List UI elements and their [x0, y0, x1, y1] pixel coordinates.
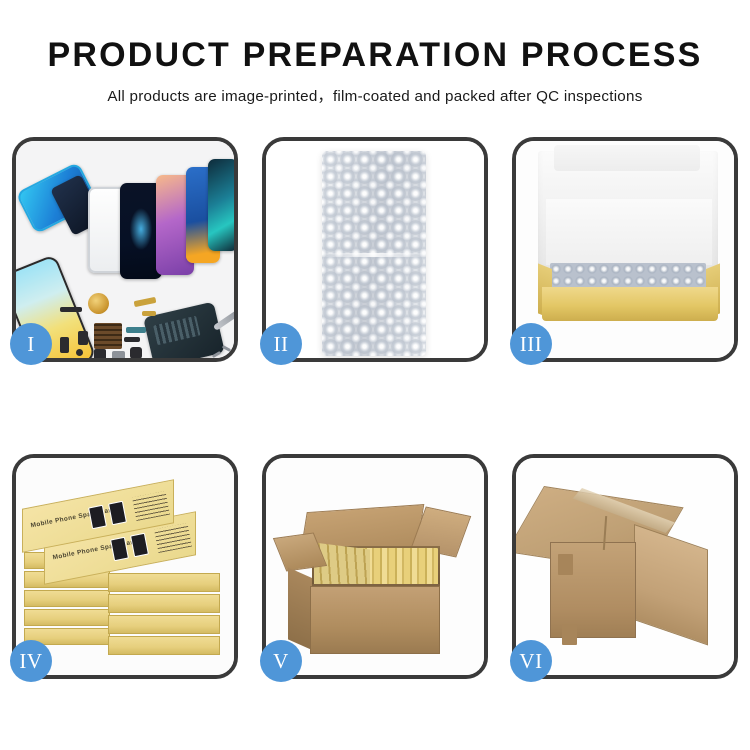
sealed-carton-right-panel-icon [634, 524, 708, 645]
step-badge-5: V [260, 640, 302, 682]
step-badge-1: I [10, 323, 52, 365]
carton-left-side-icon [288, 567, 312, 650]
box-lid-flap-icon [554, 145, 700, 171]
page-subtitle: All products are image-printed，film-coat… [0, 84, 750, 106]
part-camera-module-icon [78, 331, 88, 345]
box-front-panel-icon [542, 287, 718, 321]
teal-swirl-phone-icon [208, 159, 234, 251]
part-flex-cable-b-icon [142, 311, 156, 316]
panel-1-image [16, 141, 234, 358]
open-carton-scene [266, 458, 484, 675]
part-speaker-strip-icon [60, 307, 82, 312]
panel-2-image [266, 141, 484, 358]
process-step-panel-5[interactable]: V [262, 454, 488, 679]
part-button-icon [76, 349, 83, 356]
foam-sheet-icon [546, 199, 712, 265]
part-connector-a-icon [126, 327, 146, 333]
stacked-box-r5 [108, 636, 220, 655]
copper-coil-icon [88, 293, 109, 314]
process-step-panel-3[interactable]: III [512, 137, 738, 362]
stacked-boxes-scene: Mobile Phone Spare Parts Mobile Phone Sp… [16, 458, 234, 675]
carton-tape-tab-lower [562, 624, 577, 645]
part-flex-cable-a-icon [134, 297, 157, 307]
process-step-grid: I II III [12, 137, 738, 679]
part-bracket-icon [112, 351, 125, 358]
panel-6-image [516, 458, 734, 675]
phone-parts-scene [16, 141, 234, 358]
bubble-wrap-scene [266, 141, 484, 358]
stacked-box-r2 [108, 573, 220, 592]
panel-5-image [266, 458, 484, 675]
part-sim-tray-icon [60, 337, 69, 353]
step-badge-4: IV [10, 640, 52, 682]
inner-box-scene [516, 141, 734, 358]
page-title: PRODUCT PREPARATION PROCESS [0, 36, 750, 75]
page-header: PRODUCT PREPARATION PROCESS All products… [0, 0, 750, 106]
stacked-box-r3 [108, 594, 220, 613]
chip-board-icon [94, 323, 122, 349]
part-connector-b-icon [124, 337, 140, 342]
disassembled-phone-back-icon [143, 302, 225, 358]
carton-tape-tab-upper [558, 554, 573, 575]
part-battery-icon [94, 349, 106, 358]
process-step-panel-4[interactable]: Mobile Phone Spare Parts Mobile Phone Sp… [12, 454, 238, 679]
panel-4-image: Mobile Phone Spare Parts Mobile Phone Sp… [16, 458, 234, 675]
stacked-box-l4 [24, 609, 110, 626]
panel-3-image [516, 141, 734, 358]
stacked-box-r4 [108, 615, 220, 634]
carton-front-panel-icon [310, 586, 440, 654]
step-badge-6: VI [510, 640, 552, 682]
process-step-panel-6[interactable]: VI [512, 454, 738, 679]
stacked-box-l3 [24, 590, 110, 607]
bubble-wrap-seam [322, 253, 426, 257]
process-step-panel-1[interactable]: I [12, 137, 238, 362]
sealed-carton-scene [516, 458, 734, 675]
part-screw-b-icon [222, 345, 231, 352]
process-step-panel-2[interactable]: II [262, 137, 488, 362]
step-badge-2: II [260, 323, 302, 365]
step-badge-3: III [510, 323, 552, 365]
part-vibrator-icon [130, 347, 142, 358]
